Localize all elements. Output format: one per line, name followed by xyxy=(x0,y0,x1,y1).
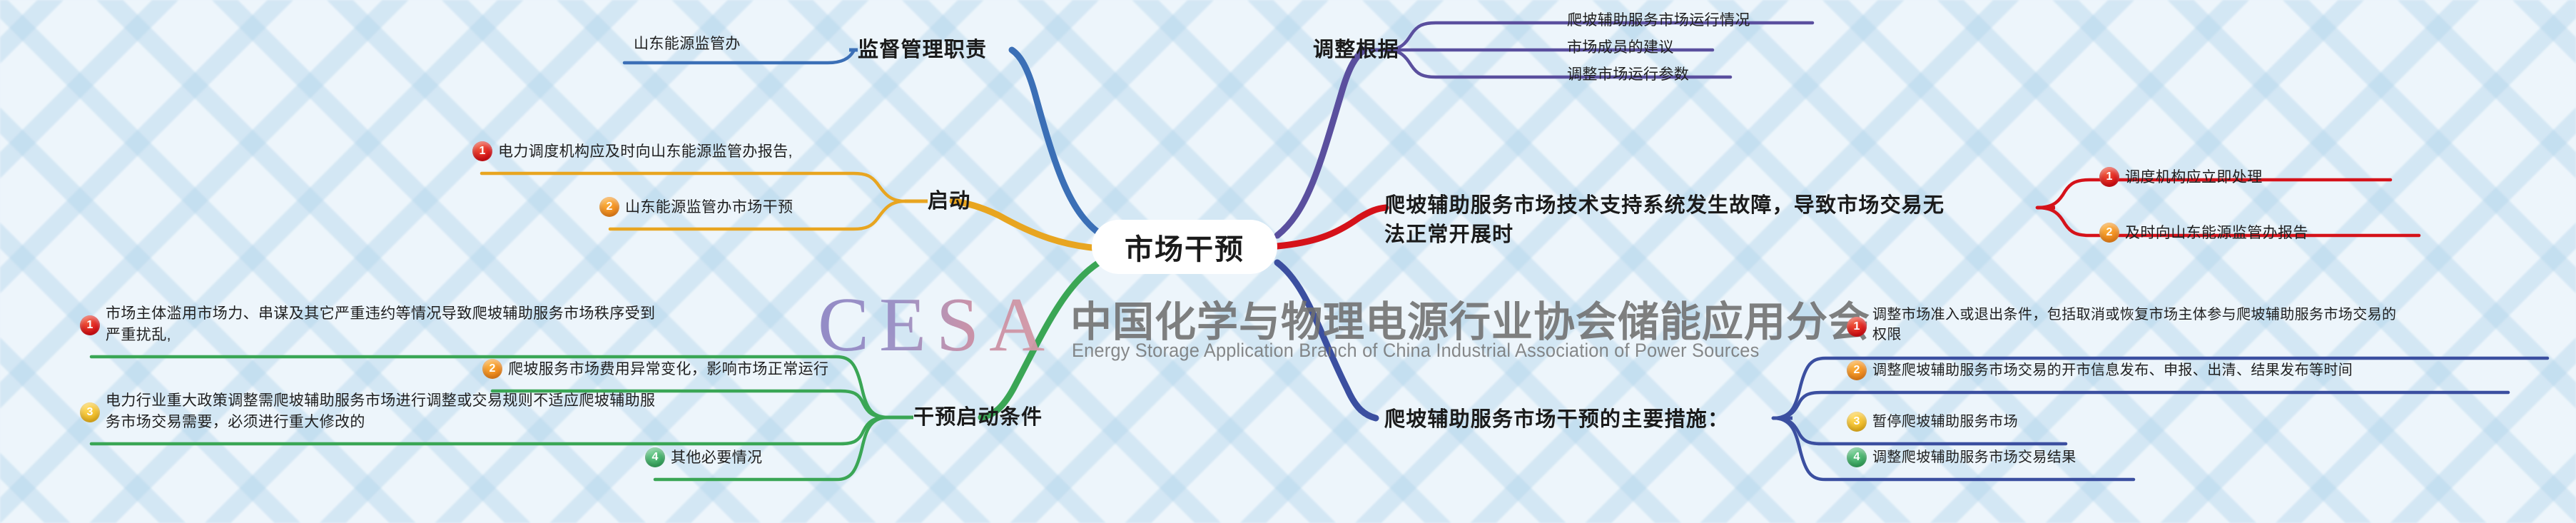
branch-label-adjust-basis[interactable]: 调整根据 xyxy=(1313,36,1399,65)
badge-number-2: 2 xyxy=(482,359,502,379)
leaf-system-failure-1-label: 调度机构应立即处理 xyxy=(2125,167,2263,188)
badge-number-4: 4 xyxy=(645,447,665,467)
badge-number-2: 2 xyxy=(1847,360,1867,380)
branch-label-system-failure[interactable]: 爬坡辅助服务市场技术支持系统发生故障，导致市场交易无 法正常开展时 xyxy=(1384,191,1944,250)
branch-label-trigger-conditions[interactable]: 干预启动条件 xyxy=(913,403,1043,432)
leaf-startup-2-label: 山东能源监管办市场干预 xyxy=(625,197,793,218)
leaf-trigger-3-label: 电力行业重大政策调整需爬坡辅助服务市场进行调整或交易规则不适应爬坡辅助服 务市场… xyxy=(106,390,655,433)
leaf-measure-1-label: 调整市场准入或退出条件，包括取消或恢复市场主体参与爬坡辅助服务市场交易的 权限 xyxy=(1872,305,2396,345)
badge-number-4: 4 xyxy=(1847,447,1867,467)
leaf-system-failure-2-label: 及时向山东能源监管办报告 xyxy=(2125,223,2308,244)
branch-label-startup[interactable]: 启动 xyxy=(928,187,970,216)
leaf-trigger-4-label: 其他必要情况 xyxy=(671,447,762,469)
leaf-adjust-basis-3[interactable]: 调整市场运行参数 xyxy=(1567,64,1689,86)
leaf-measure-3-label: 暂停爬坡辅助服务市场 xyxy=(1872,412,2018,432)
leaf-measure-2-label: 调整爬坡辅助服务市场交易的开市信息发布、申报、出清、结果发布等时间 xyxy=(1872,360,2353,380)
center-node-label: 市场干预 xyxy=(1125,226,1244,268)
leaf-trigger-1-label: 市场主体滥用市场力、串谋及其它严重违约等情况导致爬坡辅助服务市场秩序受到 严重扰… xyxy=(106,303,655,346)
branch-label-main-measures[interactable]: 爬坡辅助服务市场干预的主要措施： xyxy=(1384,405,1729,435)
badge-number-1: 1 xyxy=(472,141,492,161)
branch-label-supervision[interactable]: 监督管理职责 xyxy=(858,36,987,65)
badge-number-3: 3 xyxy=(1847,412,1867,432)
badge-number-1: 1 xyxy=(80,315,100,335)
leaf-adjust-basis-1[interactable]: 爬坡辅助服务市场运行情况 xyxy=(1567,10,1750,31)
leaf-trigger-2-label: 爬坡服务市场费用异常变化，影响市场正常运行 xyxy=(508,359,828,380)
leaf-startup-1-label: 电力调度机构应及时向山东能源监管办报告, xyxy=(498,141,793,163)
badge-number-1: 1 xyxy=(2099,167,2119,187)
center-node[interactable]: 市场干预 xyxy=(1092,220,1277,274)
badge-number-1: 1 xyxy=(1847,317,1867,337)
mindmap-canvas: CESA 中国化学与物理电源行业协会储能应用分会 Energy Storage … xyxy=(0,0,2576,523)
leaf-adjust-basis-2[interactable]: 市场成员的建议 xyxy=(1567,37,1674,59)
badge-number-2: 2 xyxy=(599,197,619,217)
leaf-supervision-1[interactable]: 山东能源监管办 xyxy=(634,34,741,55)
badge-number-3: 3 xyxy=(80,402,100,422)
badge-number-2: 2 xyxy=(2099,223,2119,243)
leaf-measure-4-label: 调整爬坡辅助服务市场交易结果 xyxy=(1872,447,2076,467)
connector-edges xyxy=(0,0,2576,523)
